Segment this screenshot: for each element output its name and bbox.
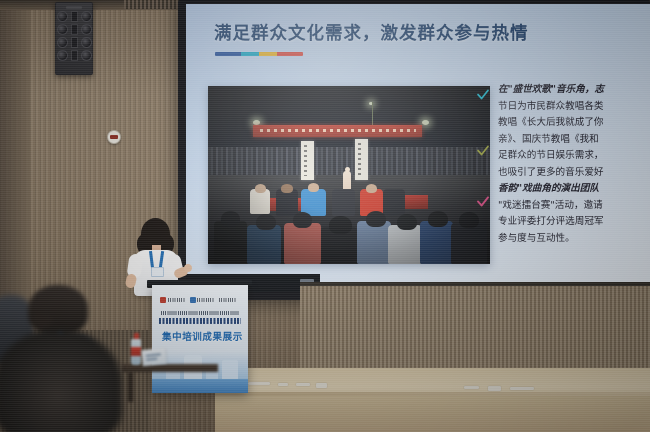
bullet-1-line-4: 亲》、国庆节教唱《我和 [498,132,650,149]
wood-slat-panel-right [300,282,650,378]
water-bottle [131,333,141,365]
audience-member-front-row [0,330,122,432]
stage-edge-highlight [215,392,650,396]
bullet-2-line-1: 足群众的节日娱乐需求， [498,148,650,165]
loudspeaker-array-icon [55,2,93,75]
check-icon-1 [476,88,490,102]
ceiling-vent [124,0,178,9]
photo-red-banner [253,125,422,137]
side-table [122,364,218,372]
projection-screen: 满足群众文化需求，激发群众参与热情 [186,4,650,292]
presenter-gesturing-hand [184,264,192,272]
podium-heading-mid [159,318,241,324]
check-icon-2 [476,144,490,158]
podium-logos [160,295,240,304]
check-icon-3 [476,195,490,209]
documents-on-table [141,348,167,366]
bullet-2-line-2: 也吸引了更多的音乐爱好 [498,165,650,182]
podium-heading-small [161,311,239,315]
slide-title: 满足群众文化需求，激发群众参与热情 [214,20,529,45]
podium-heading-large: 集中培训成果展示 [162,329,243,343]
presenter-badge [151,267,164,277]
bullet-3-line-3: 参与度与互动性。 [498,231,650,248]
bullet-1-line-2: 节日为市民群众教唱各类 [498,99,650,116]
bullet-3-line-2: 专业评委打分评选周冠军 [498,214,650,231]
presentation-photo-scene: 满足群众文化需求，激发群众参与热情 [0,0,650,432]
bullet-2-line-3: 香韵"戏曲角的演出团队 [498,181,650,198]
slide-bullet-text: 在"盛世欢歌"音乐角，志 节日为市民群众教唱各类 教唱《长大后我就成了你 亲》、… [498,82,650,247]
slide-photo [208,86,490,264]
round-notice-sign-icon [107,130,121,144]
bullet-1-line-1: 在"盛世欢歌"音乐角，志 [498,82,650,99]
podium-banner: 集中培训成果展示 [152,285,248,393]
bullet-1-line-3: 教唱《长大后我就成了你 [498,115,650,132]
stage-front-face [215,396,650,432]
bullet-3-line-1: "戏迷擂台赛"活动，邀请 [498,198,650,215]
title-accent-bar [215,52,303,56]
